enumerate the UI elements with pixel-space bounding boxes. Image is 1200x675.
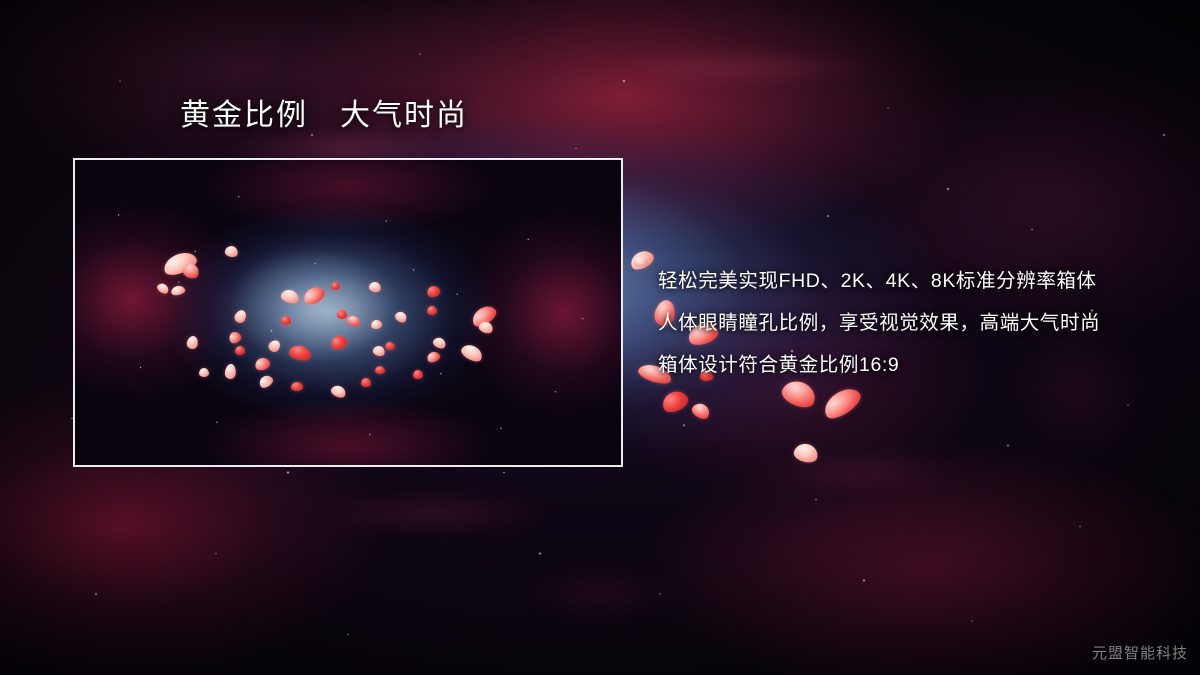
flower-petal: [427, 306, 437, 315]
flower-petal: [337, 310, 347, 319]
flower-petal: [235, 346, 245, 355]
feature-description: 轻松完美实现FHD、2K、4K、8K标准分辨率箱体 人体眼睛瞳孔比例，享受视觉效…: [658, 260, 1178, 386]
flower-petal: [375, 366, 385, 374]
flower-petal: [361, 378, 371, 387]
picture-frame-16x9: [73, 158, 623, 467]
presentation-slide: 黄金比例 大气时尚 轻松完美实现FHD、2K、4K、8K标准分辨率箱体 人体眼睛…: [0, 0, 1200, 675]
picture-starfield: [75, 160, 621, 465]
description-line-3: 箱体设计符合黄金比例16:9: [658, 344, 1178, 386]
picture-content: [75, 160, 621, 465]
page-title: 黄金比例 大气时尚: [180, 101, 468, 131]
description-line-1: 轻松完美实现FHD、2K、4K、8K标准分辨率箱体: [658, 260, 1178, 302]
brand-watermark: 元盟智能科技: [1092, 642, 1188, 663]
flower-petal: [634, 256, 648, 267]
flower-petal: [331, 282, 340, 290]
flower-petal: [385, 342, 395, 350]
flower-petal: [199, 368, 209, 377]
description-line-2: 人体眼睛瞳孔比例，享受视觉效果，高端大气时尚: [658, 302, 1178, 344]
flower-petal: [291, 382, 303, 391]
flower-petal: [281, 316, 291, 325]
flower-petal: [413, 370, 423, 379]
